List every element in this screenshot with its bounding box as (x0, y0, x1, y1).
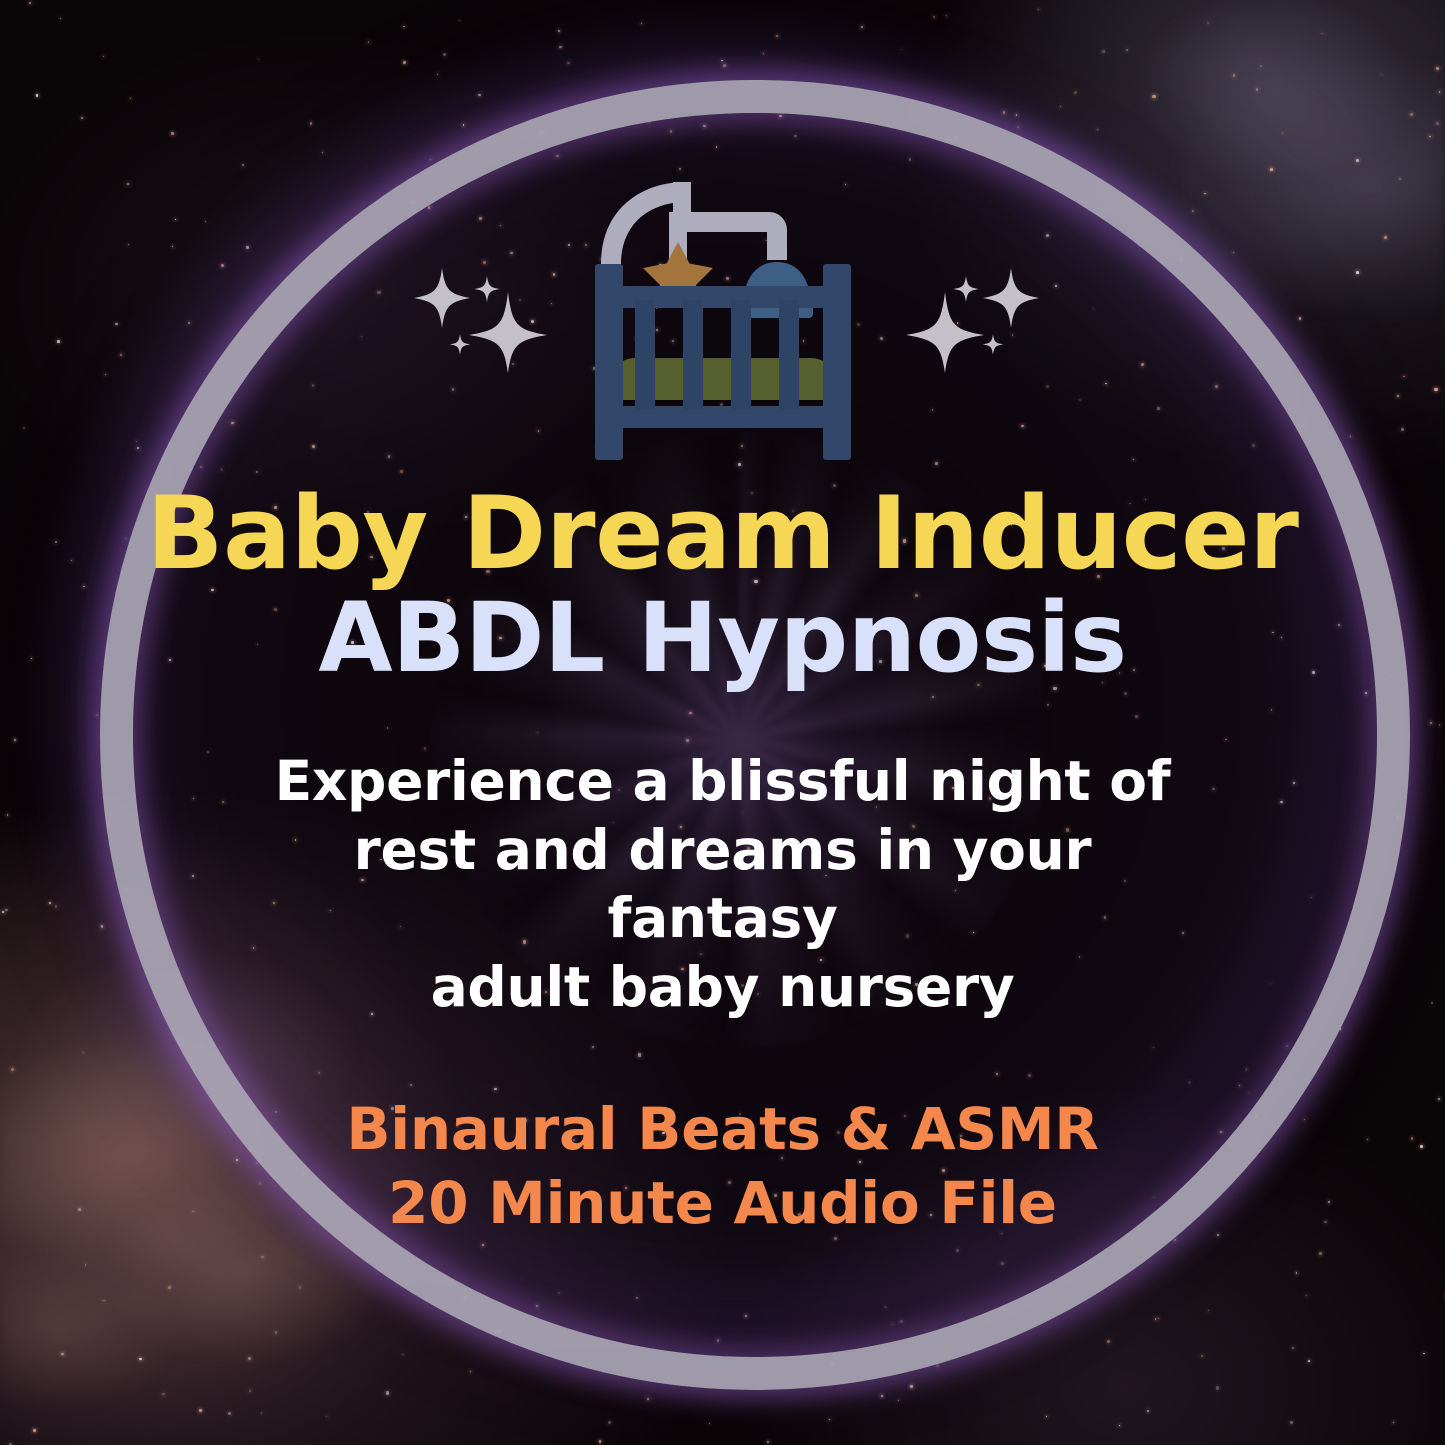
crib-slat (731, 300, 751, 410)
poster-content: Baby Dream Inducer ABDL Hypnosis Experie… (0, 0, 1445, 1445)
sparkle-icon (953, 276, 979, 302)
sparkles-left (408, 262, 568, 377)
sparkle-icon (450, 334, 471, 355)
crib-slat (683, 300, 703, 410)
text-block: Baby Dream Inducer ABDL Hypnosis Experie… (0, 483, 1445, 1240)
crib-slat (779, 300, 799, 410)
footer-line-1: Binaural Beats & ASMR (223, 1092, 1223, 1166)
sparkle-icon (983, 268, 1039, 328)
baby-crib-icon (573, 168, 873, 468)
sparkle-icon (983, 334, 1004, 355)
footer-line-2: 20 Minute Audio File (223, 1166, 1223, 1240)
description-line-2: rest and dreams in your fantasy (273, 816, 1173, 954)
crib-top-rail (595, 286, 851, 308)
crib-bottom-rail (595, 406, 851, 428)
page-subtitle: ABDL Hypnosis (0, 588, 1445, 689)
sparkle-icon (474, 276, 500, 302)
poster-canvas: Baby Dream Inducer ABDL Hypnosis Experie… (0, 0, 1445, 1445)
footer-text: Binaural Beats & ASMR 20 Minute Audio Fi… (223, 1092, 1223, 1240)
description-line-1: Experience a blissful night of (273, 747, 1173, 816)
description-text: Experience a blissful night of rest and … (273, 747, 1173, 1022)
description-line-3: adult baby nursery (273, 953, 1173, 1022)
sparkle-icon (906, 292, 984, 373)
page-title: Baby Dream Inducer (0, 483, 1445, 588)
mobile-arm-horizontal (673, 212, 787, 260)
sparkle-icon (414, 268, 470, 328)
sparkle-icon (469, 292, 547, 373)
sparkles-right (885, 262, 1045, 377)
crib-slat (635, 300, 655, 410)
